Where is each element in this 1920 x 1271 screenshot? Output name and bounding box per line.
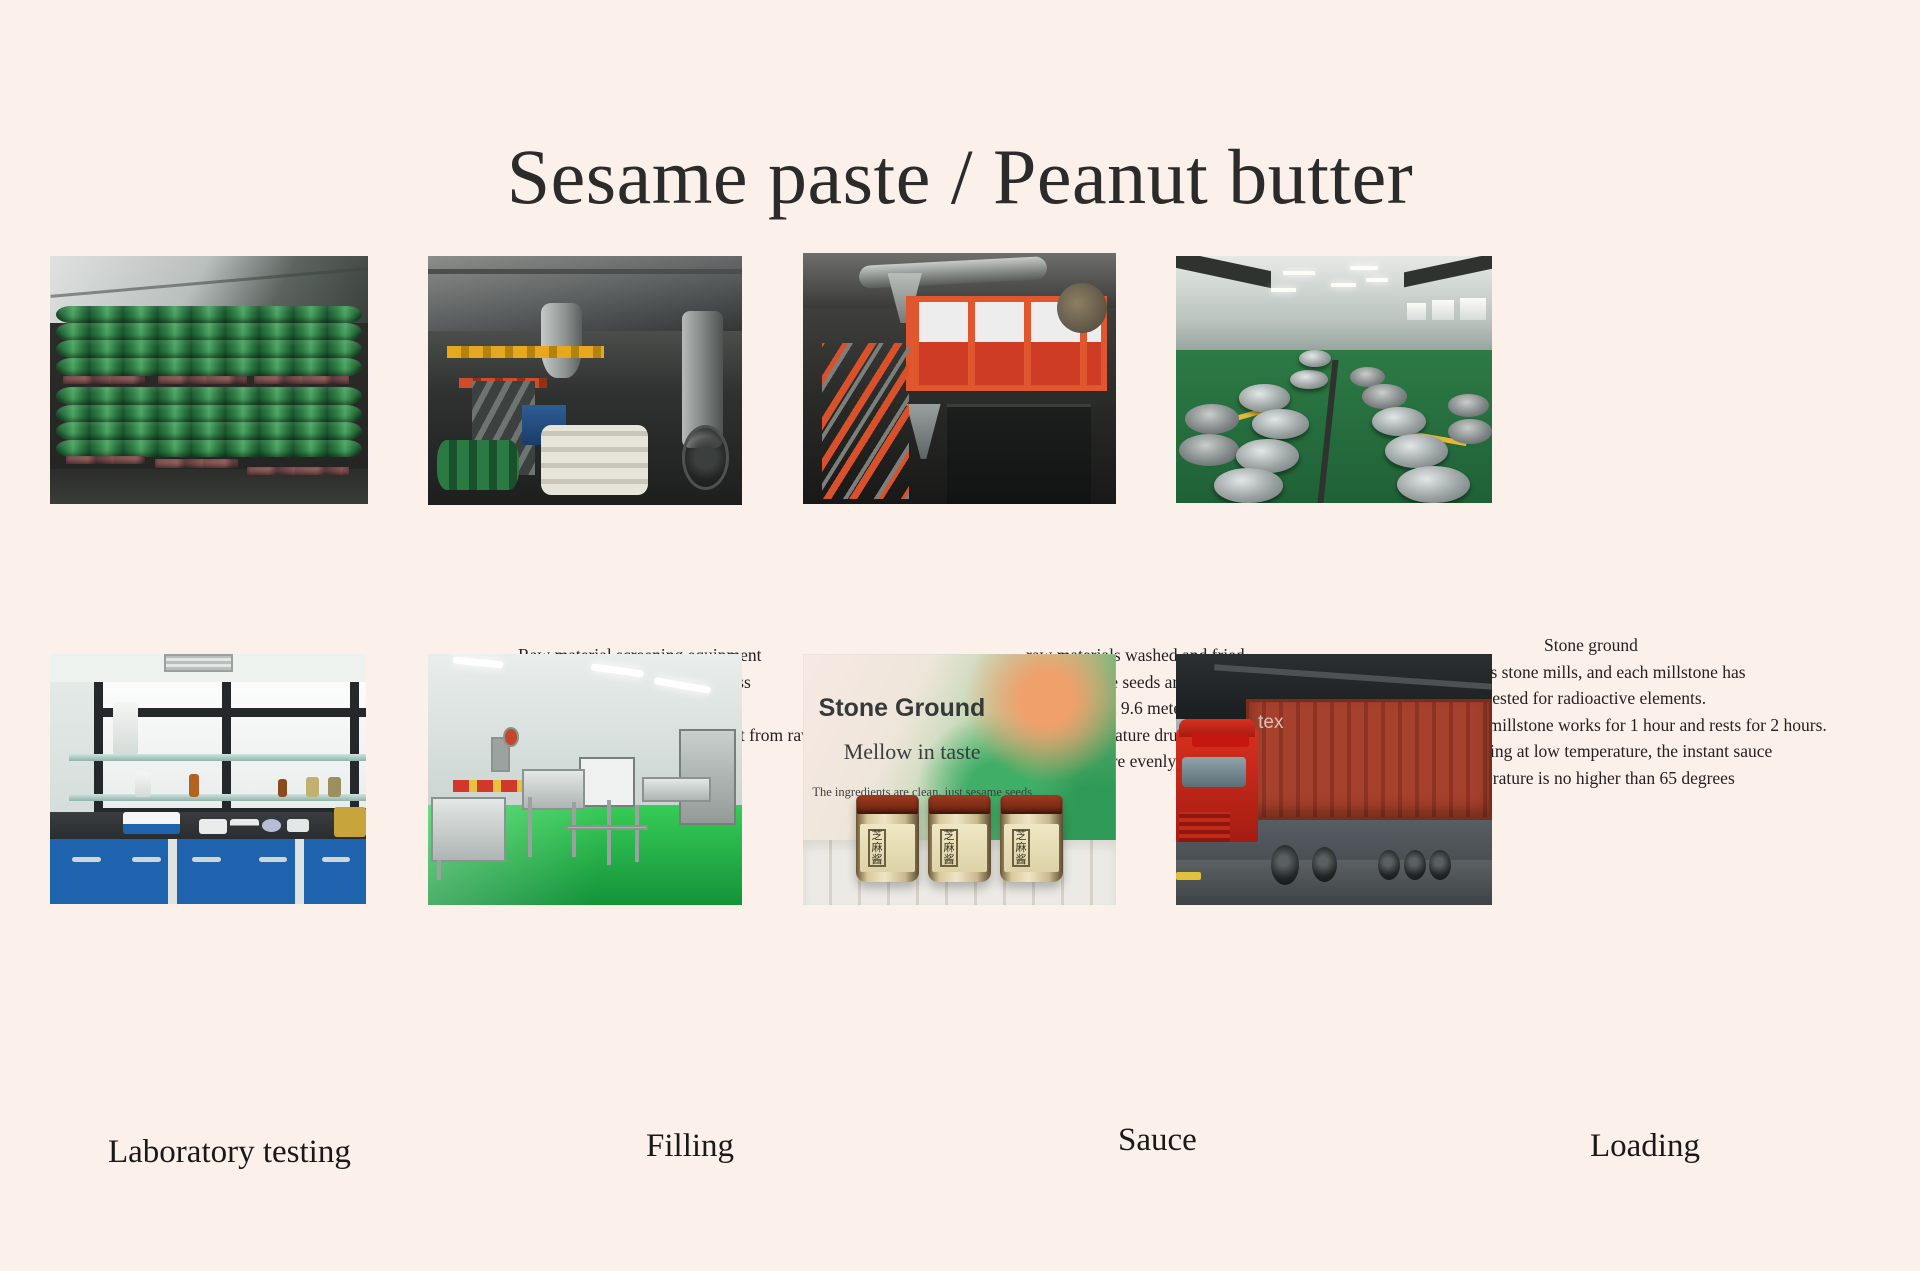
jar-lid [857,795,917,814]
caption-loading: Loading [1590,1128,1700,1165]
caption-sauce: Sauce [1118,1122,1197,1159]
stone-ground-line-2: been tested for radioactive elements. [1436,685,1827,712]
product-jar: 芝麻酱 [928,795,991,883]
jar-label: 芝麻酱 [932,824,987,871]
loading-scene: tex [1176,654,1492,905]
jar-lid [929,795,989,814]
jar-label-text: 芝麻酱 [868,829,887,867]
stone-ground-line-3: 2.Each millstone works for 1 hour and re… [1436,712,1827,739]
jar-label-text: 芝麻酱 [940,829,959,867]
sauce-banner-scene: Stone Ground Mellow in taste The ingredi… [803,654,1116,905]
photo-sauce-banner: Stone Ground Mellow in taste The ingredi… [803,654,1116,905]
stone-ground-heading: Stone ground [1436,632,1827,659]
jar-label: 芝麻酱 [860,824,915,871]
banner-tagline: The ingredients are clean, just sesame s… [812,785,1032,800]
jar-label-text: 芝麻酱 [1012,829,1031,867]
stone-ground-line-1: 1.60 sets stone mills, and each millston… [1436,659,1827,686]
banner-subhead: Mellow in taste [844,739,981,765]
text-stone-ground: Stone ground 1.60 sets stone mills, and … [1436,632,1827,791]
container-brand-text: tex [1258,712,1283,734]
cab-sign [1192,734,1249,747]
poster-page: Sesame paste / Peanut butter [0,0,1920,1271]
photo-filling-line [428,654,742,905]
jar-lid [1001,795,1061,814]
roasting-plant-scene [803,253,1116,504]
stone-ground-line-4: 3.Grinding at low temperature, the insta… [1436,738,1827,765]
page-title: Sesame paste / Peanut butter [0,132,1920,222]
laboratory-scene [50,654,366,904]
caption-filling: Filling [646,1128,734,1165]
photo-laboratory [50,654,366,904]
jar-label: 芝麻酱 [1004,824,1059,871]
banner-headline: Stone Ground [819,694,986,723]
product-jar: 芝麻酱 [856,795,919,883]
warehouse-scene [50,256,368,504]
screening-plant-scene [428,256,742,505]
photo-loading-truck: tex [1176,654,1492,905]
photo-roasting-plant [803,253,1116,504]
photo-screening-equipment [428,256,742,505]
stone-mill-hall-scene [1176,256,1492,503]
caption-laboratory-testing: Laboratory testing [108,1134,351,1171]
photo-raw-material [50,256,368,504]
product-jar: 芝麻酱 [1000,795,1063,883]
stone-ground-line-5: temperature is no higher than 65 degrees [1436,765,1827,792]
filling-line-scene [428,654,742,905]
photo-stone-mills [1176,256,1492,503]
